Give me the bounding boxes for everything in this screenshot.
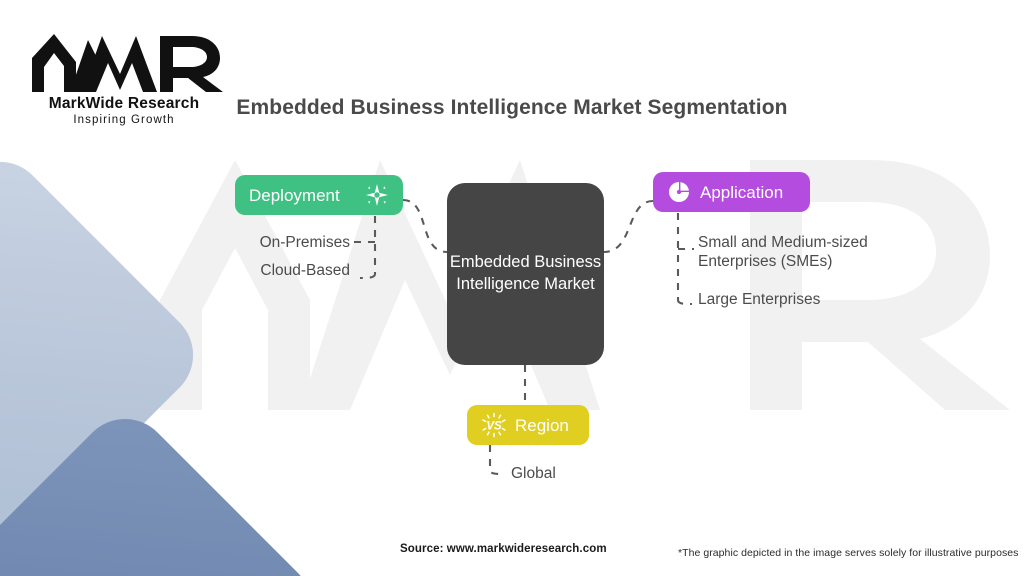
connector-region-global bbox=[490, 445, 504, 474]
source-text: Source: www.markwideresearch.com bbox=[400, 543, 607, 555]
segmentation-diagram: Embedded Business Intelligence Market De… bbox=[0, 0, 1024, 576]
pie-chart-icon bbox=[667, 180, 691, 204]
hub-label: Embedded Business Intelligence Market bbox=[447, 252, 604, 296]
vs-burst-icon: VS bbox=[481, 412, 507, 438]
connector-application-hub bbox=[604, 201, 653, 252]
branch-label-application: Application bbox=[700, 184, 783, 201]
branch-badge-application[interactable]: Application bbox=[653, 172, 810, 212]
connector-application-large bbox=[678, 300, 692, 304]
branch-badge-deployment[interactable]: Deployment bbox=[235, 175, 403, 215]
svg-text:VS: VS bbox=[486, 421, 502, 433]
leaf-large-enterprises: Large Enterprises bbox=[698, 291, 948, 310]
connector-deployment-hub bbox=[403, 200, 447, 252]
leaf-smes-line2: Enterprises (SMEs) bbox=[698, 253, 948, 272]
branch-label-deployment: Deployment bbox=[249, 187, 340, 204]
leaf-smes: Small and Medium-sized Enterprises (SMEs… bbox=[698, 234, 948, 272]
branch-label-region: Region bbox=[515, 417, 569, 434]
leaf-on-premises: On-Premises bbox=[150, 234, 350, 253]
leaf-cloud-based: Cloud-Based bbox=[150, 262, 350, 281]
leaf-global: Global bbox=[511, 465, 711, 484]
disclaimer-text: *The graphic depicted in the image serve… bbox=[678, 547, 1018, 559]
hub-node: Embedded Business Intelligence Market bbox=[447, 183, 604, 365]
sparkle-star-icon bbox=[365, 183, 389, 207]
connector-deployment-cloud bbox=[360, 274, 375, 278]
leaf-smes-line1: Small and Medium-sized bbox=[698, 234, 948, 253]
branch-badge-region[interactable]: VS Region bbox=[467, 405, 589, 445]
